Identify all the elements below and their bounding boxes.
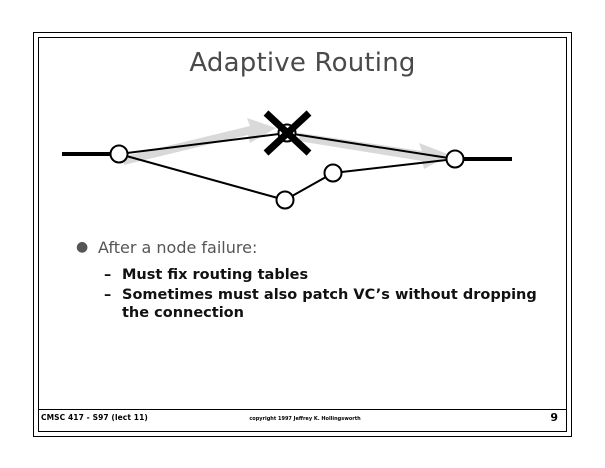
lower-left-node bbox=[277, 192, 294, 209]
link-failed-right bbox=[287, 133, 455, 159]
footer-page-number: 9 bbox=[530, 411, 558, 424]
flow-arrow-left-to-failed bbox=[122, 118, 276, 165]
link-left-lower1 bbox=[119, 154, 285, 200]
slide-body: ● After a node failure: – Must fix routi… bbox=[70, 238, 550, 325]
failure-x-mark bbox=[266, 113, 309, 153]
bullet-level2: – Must fix routing tables bbox=[70, 266, 550, 284]
lower-right-node bbox=[325, 165, 342, 182]
bullet-disc-icon: ● bbox=[76, 239, 88, 256]
adaptive-routing-network-diagram bbox=[38, 95, 567, 225]
footer-course-label: CMSC 417 - S97 (lect 11) bbox=[41, 413, 148, 422]
bullet-dash-icon: – bbox=[104, 266, 111, 284]
left-node bbox=[111, 146, 128, 163]
bullet-level2: – Sometimes must also patch VC’s without… bbox=[70, 286, 550, 322]
bullet-dash-icon: – bbox=[104, 286, 111, 304]
right-node bbox=[447, 151, 464, 168]
page-title: Adaptive Routing bbox=[38, 48, 567, 78]
bullet-level1: ● After a node failure: bbox=[70, 238, 550, 257]
bullet-level2-label: Must fix routing tables bbox=[122, 267, 308, 283]
link-lower2-right bbox=[333, 159, 455, 173]
slide-root: Adaptive Routing bbox=[0, 0, 605, 468]
link-left-failed bbox=[119, 133, 287, 154]
footer-divider bbox=[38, 409, 567, 410]
bullet-level1-label: After a node failure: bbox=[98, 238, 257, 257]
bullet-level2-label: Sometimes must also patch VC’s without d… bbox=[122, 287, 537, 321]
footer-copyright-label: copyright 1997 Jeffrey K. Hollingsworth bbox=[180, 416, 430, 422]
